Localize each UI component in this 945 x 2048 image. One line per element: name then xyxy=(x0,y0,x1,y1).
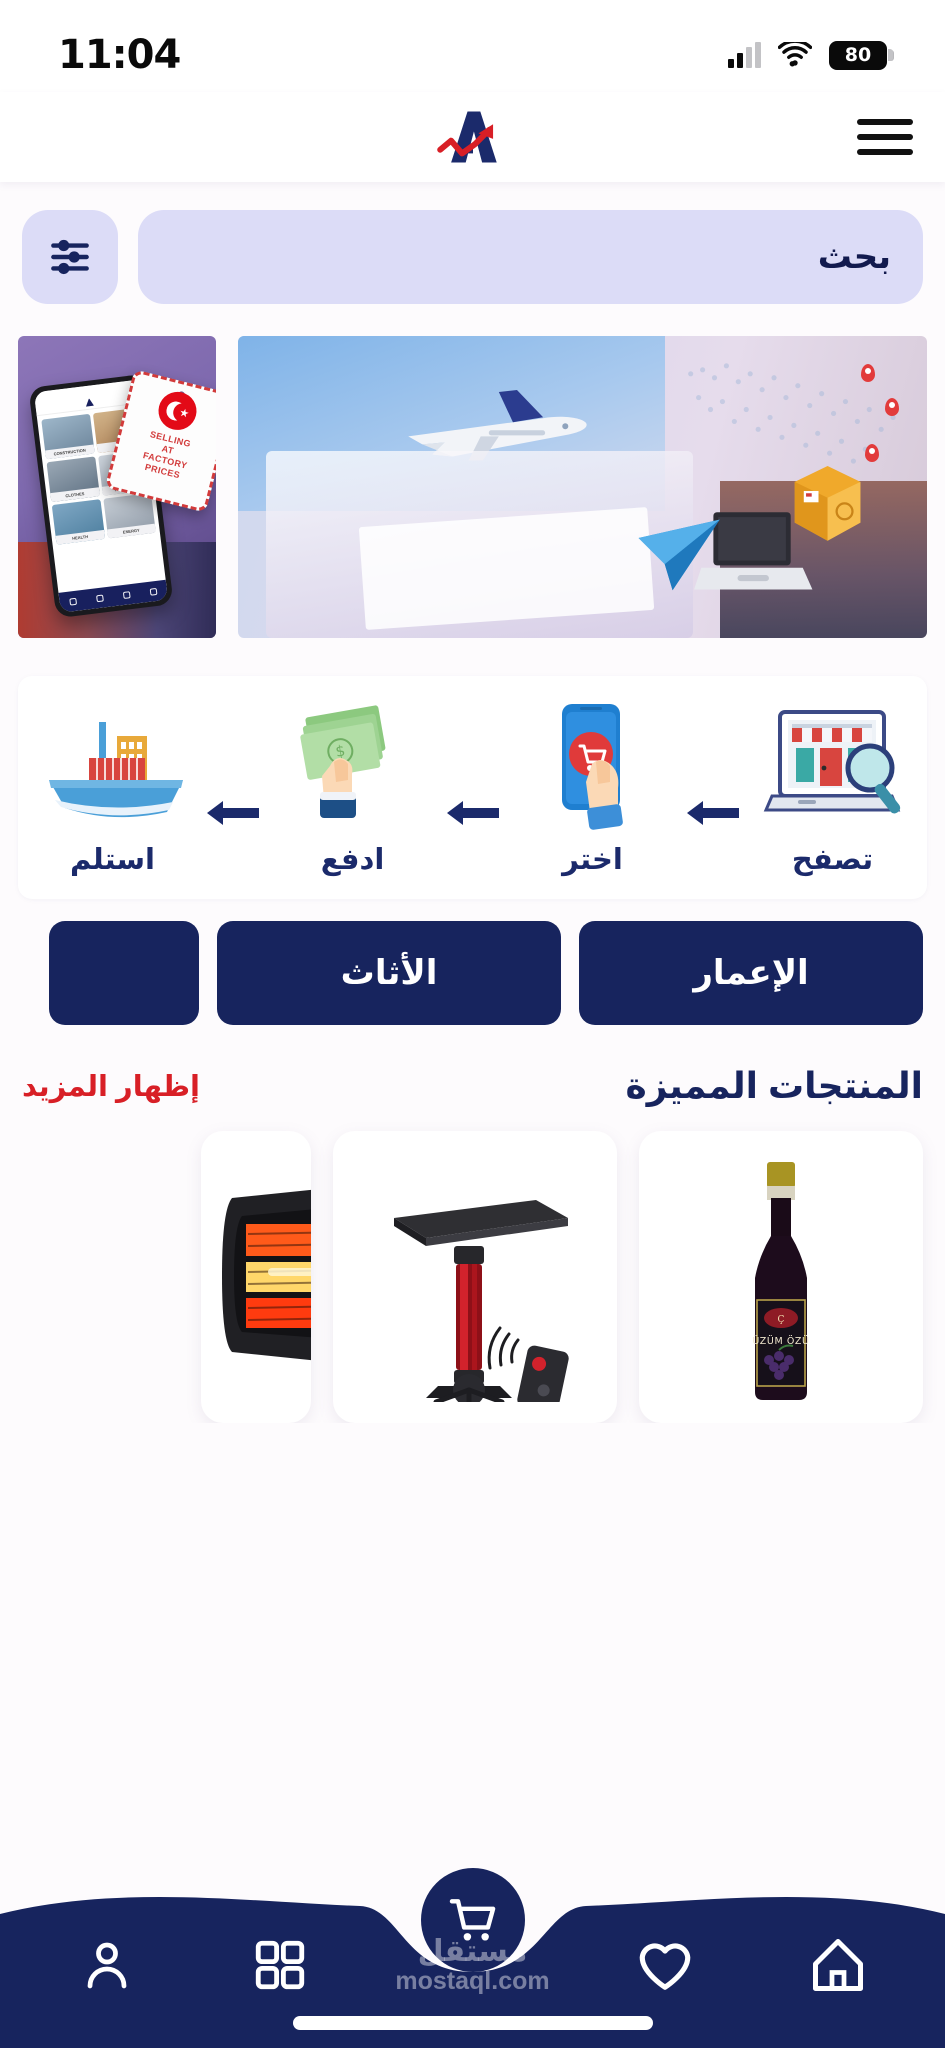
category-label: الأثاث xyxy=(341,953,438,993)
wifi-icon xyxy=(778,42,812,68)
filter-sliders-icon[interactable] xyxy=(22,210,118,304)
status-indicators: 80 xyxy=(728,41,887,70)
nav-profile[interactable] xyxy=(52,1935,162,1995)
step-pay: $ ادفع xyxy=(270,702,435,877)
grid-categories-icon xyxy=(251,1936,309,1994)
category-label: الإعمار xyxy=(693,953,808,993)
step-receive: استلم xyxy=(30,702,195,877)
category-chip-construction[interactable]: الإعمار xyxy=(579,921,923,1025)
banner-carousel: CONSTRUCTION FOOD CLOTHES FURNITURE HEAL… xyxy=(0,304,945,638)
app-logo-a-arrow[interactable] xyxy=(427,106,519,168)
logistics-banner[interactable] xyxy=(238,336,927,638)
category-chip-furniture[interactable]: الأثاث xyxy=(217,921,561,1025)
arrow-left-icon xyxy=(681,749,745,877)
paper-plane-icon xyxy=(624,517,734,596)
status-bar: 11:04 80 xyxy=(0,0,945,92)
battery-icon: 80 xyxy=(829,41,887,70)
search-placeholder: بحث xyxy=(818,237,891,277)
turkey-flag-icon: ★ xyxy=(154,388,200,434)
page-title: المنتجات المميزة xyxy=(626,1065,924,1107)
promo-cat-label: HEALTH xyxy=(56,530,105,545)
cart-fab-button[interactable] xyxy=(421,1868,525,1972)
app-header xyxy=(0,92,945,182)
cellular-signal-icon xyxy=(728,42,761,68)
patio-heater-with-remote xyxy=(350,1152,600,1402)
phone-tap-cart-icon xyxy=(528,702,658,830)
arrow-left-icon xyxy=(441,749,505,877)
step-label: ادفع xyxy=(321,842,385,877)
step-label: استلم xyxy=(70,842,155,877)
featured-section-header: المنتجات المميزة إظهار المزيد xyxy=(0,1025,945,1107)
step-browse: تصفح xyxy=(750,702,915,877)
infrared-wall-heater xyxy=(202,1182,311,1372)
parcel-box-icon xyxy=(769,457,886,548)
status-time: 11:04 xyxy=(58,32,180,78)
cargo-ship-icon xyxy=(33,710,193,830)
featured-products-row[interactable]: Ç ÜZÜM ÖZÜ xyxy=(0,1107,945,1423)
svg-text:ÜZÜM ÖZÜ: ÜZÜM ÖZÜ xyxy=(752,1336,809,1347)
category-chip-row[interactable]: الإعمار الأثاث xyxy=(0,899,945,1025)
app-promo-banner[interactable]: CONSTRUCTION FOOD CLOTHES FURNITURE HEAL… xyxy=(18,336,216,638)
shopping-cart-icon xyxy=(445,1892,501,1948)
nav-categories[interactable] xyxy=(225,1936,335,1994)
hamburger-menu-icon[interactable] xyxy=(857,114,913,160)
heart-favorites-icon xyxy=(634,1934,696,1996)
step-label: تصفح xyxy=(792,842,873,877)
contract-document xyxy=(359,507,655,630)
profile-icon xyxy=(77,1935,137,1995)
cash-hand-icon: $ xyxy=(278,704,428,830)
search-row: بحث xyxy=(0,182,945,304)
promo-cat-label: ENERGY xyxy=(107,524,156,539)
category-chip-next[interactable] xyxy=(49,921,199,1025)
nav-favorites[interactable] xyxy=(610,1934,720,1996)
home-icon xyxy=(808,1935,868,1995)
bottom-navigation: مستقل mostaql.com xyxy=(0,1876,945,2048)
how-it-works-steps: استلم $ ادفع xyxy=(18,676,927,899)
location-pin-icon xyxy=(861,364,875,382)
svg-text:Ç: Ç xyxy=(778,1315,785,1325)
search-input[interactable]: بحث xyxy=(138,210,923,304)
product-card-grape-extract[interactable]: Ç ÜZÜM ÖZÜ xyxy=(639,1131,923,1423)
product-card-infrared-heater[interactable] xyxy=(201,1131,311,1423)
location-pin-icon xyxy=(885,398,899,416)
product-card-patio-heater[interactable] xyxy=(333,1131,617,1423)
home-indicator xyxy=(293,2016,653,2030)
grape-extract-bottle: Ç ÜZÜM ÖZÜ xyxy=(721,1152,841,1402)
step-choose: اختر xyxy=(510,702,675,877)
show-more-link[interactable]: إظهار المزيد xyxy=(22,1069,200,1104)
battery-percent: 80 xyxy=(845,44,871,66)
storefront-search-icon xyxy=(758,706,908,830)
arrow-left-icon xyxy=(201,749,265,877)
nav-home[interactable] xyxy=(783,1935,893,1995)
step-label: اختر xyxy=(562,842,623,877)
